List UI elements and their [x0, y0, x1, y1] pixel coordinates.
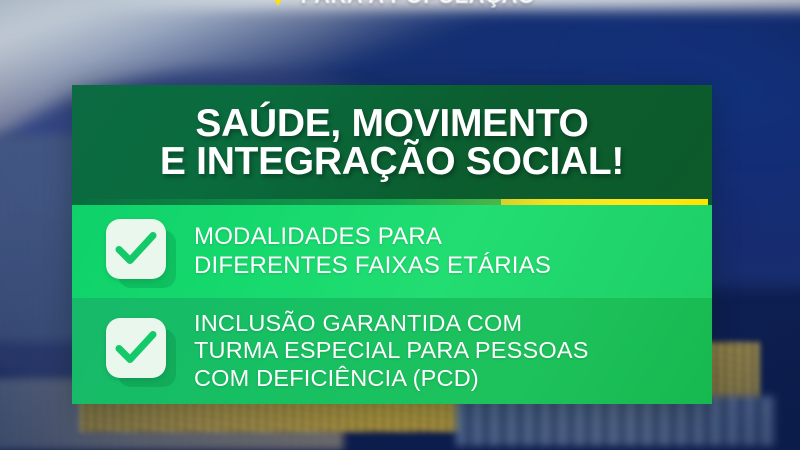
- feature-2-line-3: COM DEFICIÊNCIA (PCD): [194, 365, 589, 392]
- feature-2-line-1: INCLUSÃO GARANTIDA COM: [194, 310, 589, 337]
- panel-header: SAÚDE, MOVIMENTO E INTEGRAÇÃO SOCIAL!: [72, 85, 712, 199]
- feature-2-text: INCLUSÃO GARANTIDA COM TURMA ESPECIAL PA…: [194, 310, 589, 392]
- page-title: SAÚDE, MOVIMENTO E INTEGRAÇÃO SOCIAL!: [160, 105, 624, 181]
- feature-2-line-2: TURMA ESPECIAL PARA PESSOAS: [194, 337, 589, 364]
- promo-poster: PARA A POPULAÇÃO SAÚDE, MOVIMENTO E INTE…: [0, 0, 800, 450]
- accent-divider-yellow: [501, 199, 708, 205]
- feature-item-1: MODALIDADES PARA DIFERENTES FAIXAS ETÁRI…: [72, 205, 712, 298]
- accent-divider: [72, 199, 712, 205]
- title-line-1: SAÚDE, MOVIMENTO: [160, 105, 624, 143]
- checkbox-checked-icon: [106, 219, 172, 285]
- checkbox-checked-icon: [106, 318, 172, 384]
- feature-1-line-2: DIFERENTES FAIXAS ETÁRIAS: [194, 252, 551, 280]
- title-line-2: E INTEGRAÇÃO SOCIAL!: [160, 143, 624, 181]
- feature-item-2: INCLUSÃO GARANTIDA COM TURMA ESPECIAL PA…: [72, 298, 712, 404]
- accent-divider-green: [72, 199, 501, 205]
- content-panel: SAÚDE, MOVIMENTO E INTEGRAÇÃO SOCIAL! MO…: [72, 85, 712, 404]
- feature-1-line-1: MODALIDADES PARA: [194, 223, 551, 251]
- feature-1-text: MODALIDADES PARA DIFERENTES FAIXAS ETÁRI…: [194, 223, 551, 279]
